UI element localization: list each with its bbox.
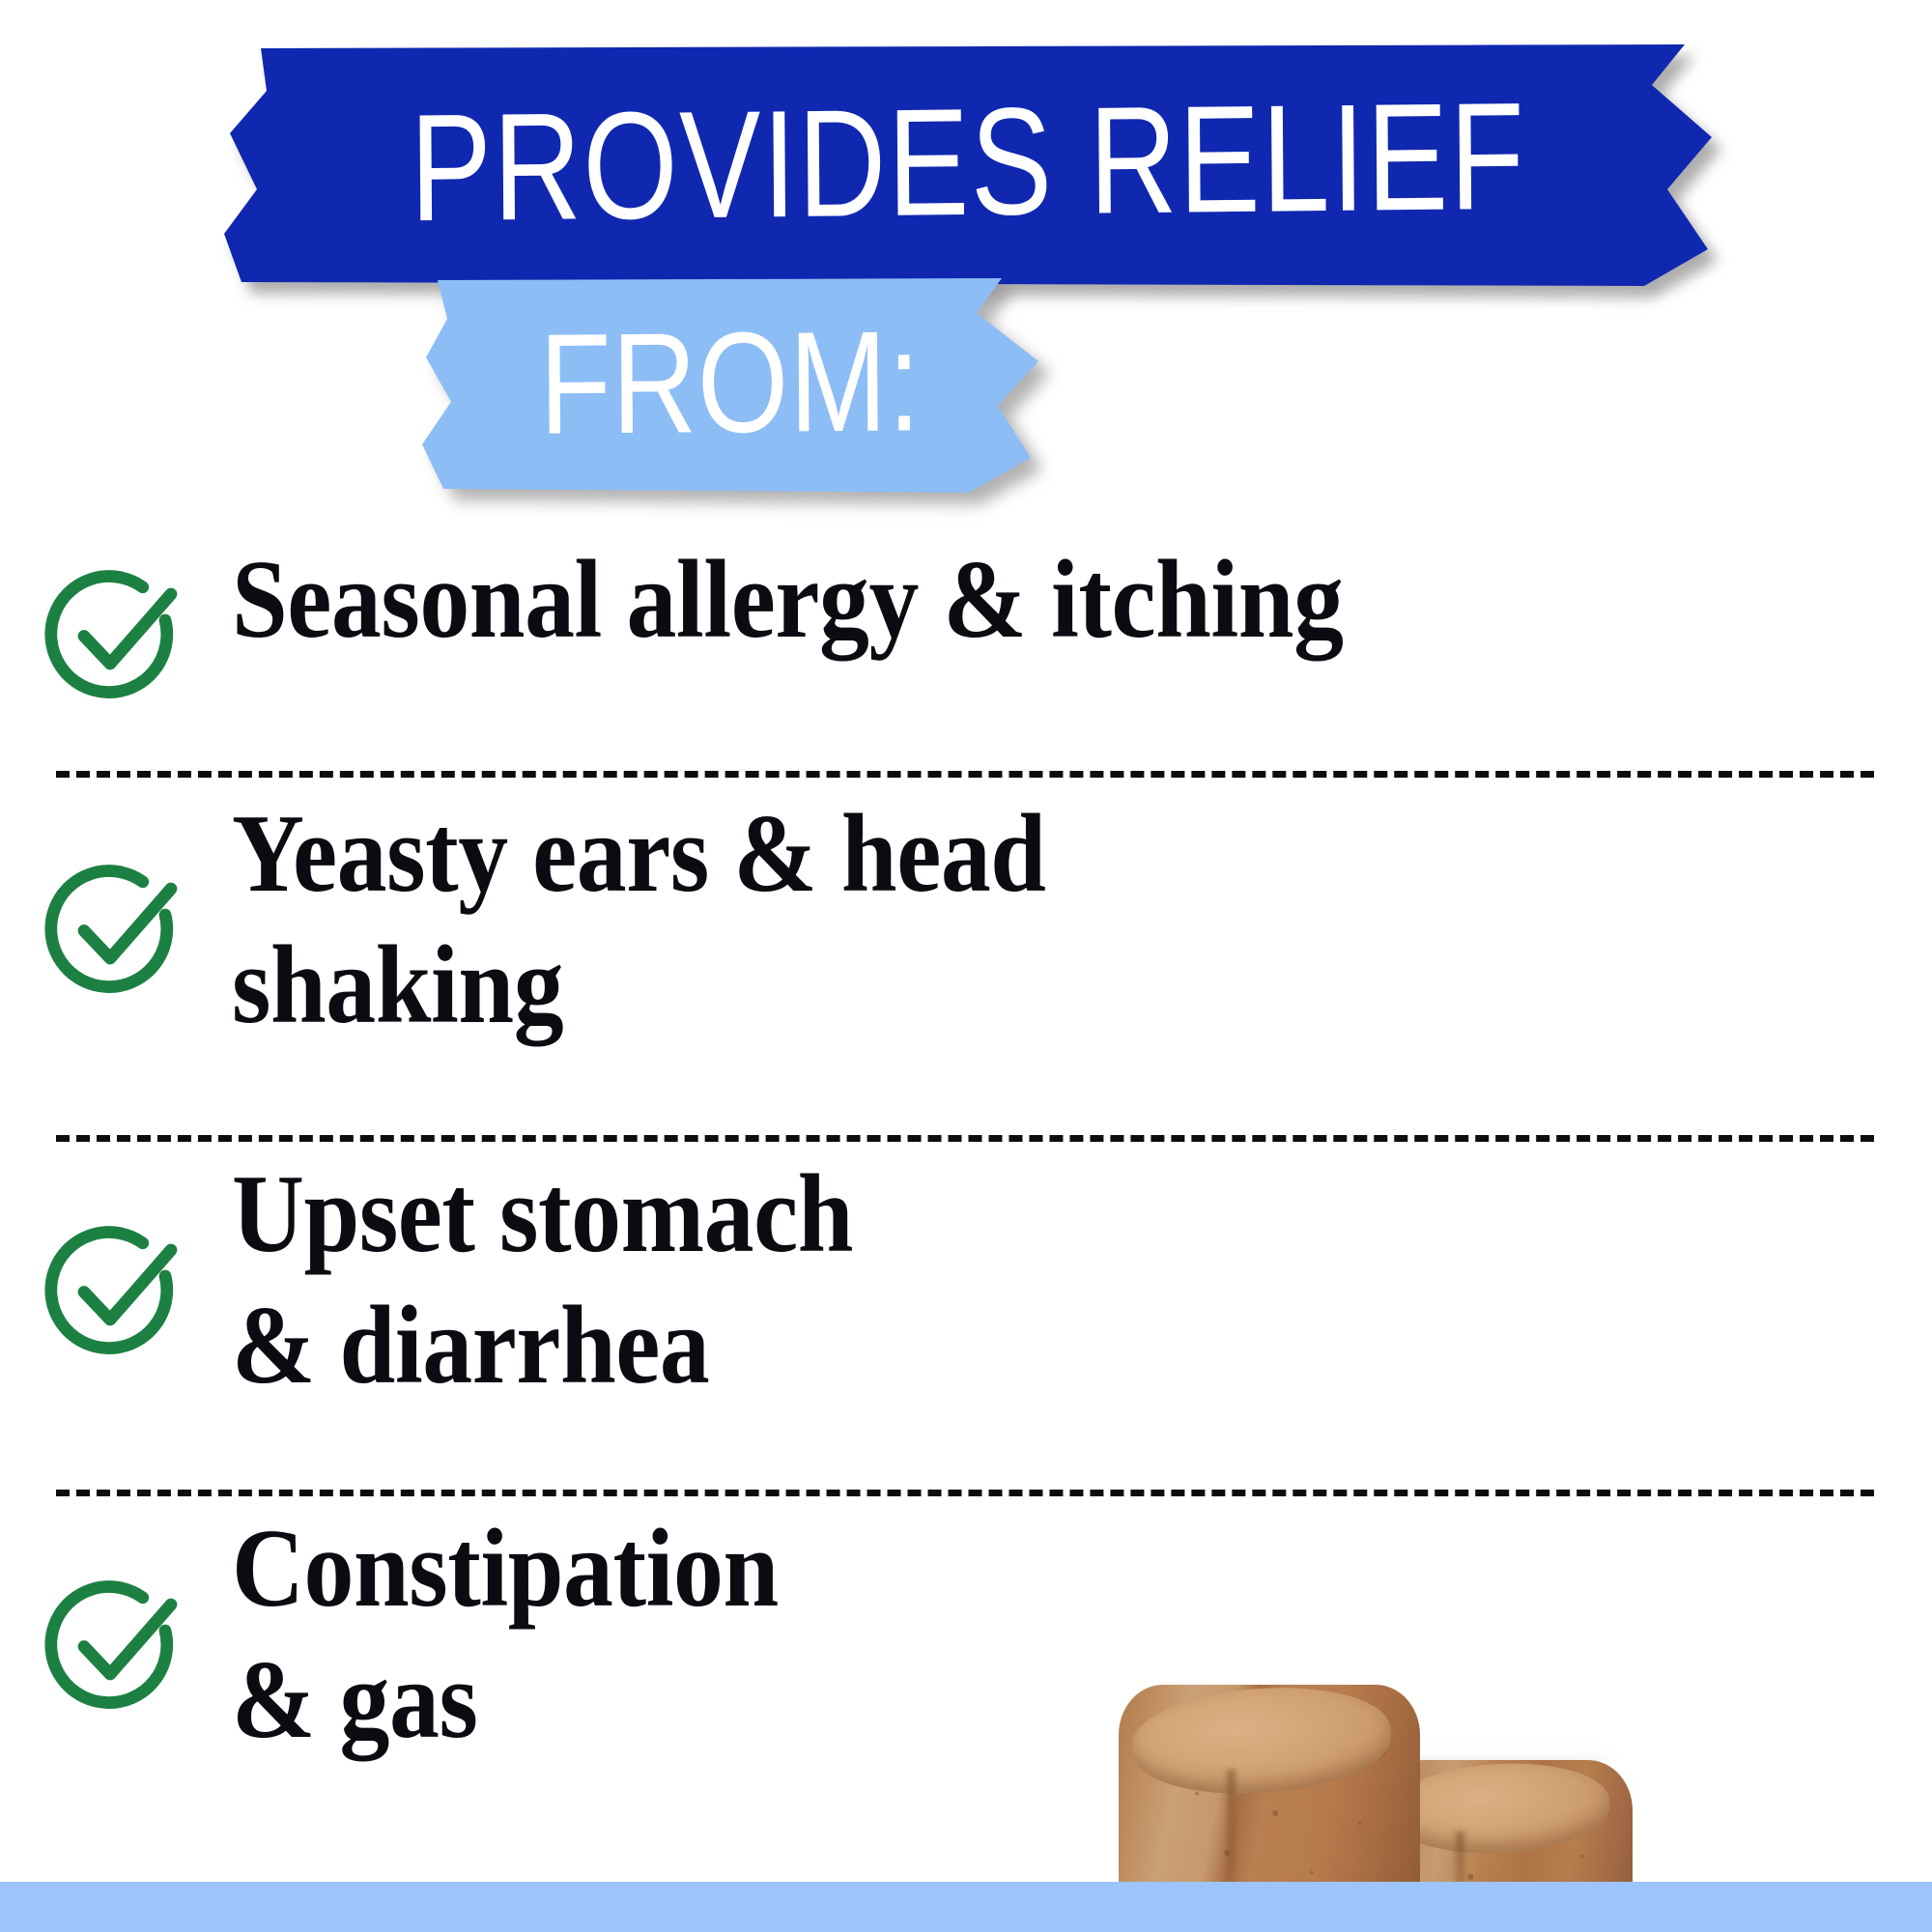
primary-banner: PROVIDES RELIEF: [224, 44, 1712, 286]
list-item: Seasonal allergy & itching: [0, 541, 1932, 771]
list-divider: [56, 1135, 1874, 1142]
list-item-label: Upset stomach & diarrhea: [232, 1150, 1753, 1411]
check-circle-glyph: [46, 1221, 191, 1366]
check-circle-icon: [46, 1221, 191, 1366]
list-item-label: Yeasty ears & head shaking: [232, 789, 1753, 1051]
list-item: Upset stomach & diarrhea: [0, 1142, 1932, 1490]
list-divider: [56, 771, 1874, 778]
check-circle-icon: [46, 1576, 191, 1720]
infographic-canvas: PROVIDES RELIEF FROM: Seasonal allergy &…: [0, 0, 1932, 1932]
benefit-list: Seasonal allergy & itching Yeasty ears &…: [0, 541, 1932, 1815]
list-item: Yeasty ears & head shaking: [0, 778, 1932, 1135]
check-circle-icon: [46, 860, 191, 1005]
check-circle-glyph: [46, 860, 191, 1005]
footer-bar: [0, 1882, 1932, 1932]
check-circle-icon: [46, 565, 191, 710]
secondary-banner: FROM:: [422, 278, 1038, 493]
list-divider: [56, 1490, 1874, 1496]
primary-banner-text: PROVIDES RELIEF: [372, 38, 1564, 292]
secondary-banner-text: FROM:: [477, 276, 983, 495]
check-circle-glyph: [46, 565, 191, 710]
list-item-label: Seasonal allergy & itching: [232, 535, 1753, 667]
header-banner-group: PROVIDES RELIEF FROM:: [0, 0, 1932, 512]
check-circle-glyph: [46, 1576, 191, 1720]
